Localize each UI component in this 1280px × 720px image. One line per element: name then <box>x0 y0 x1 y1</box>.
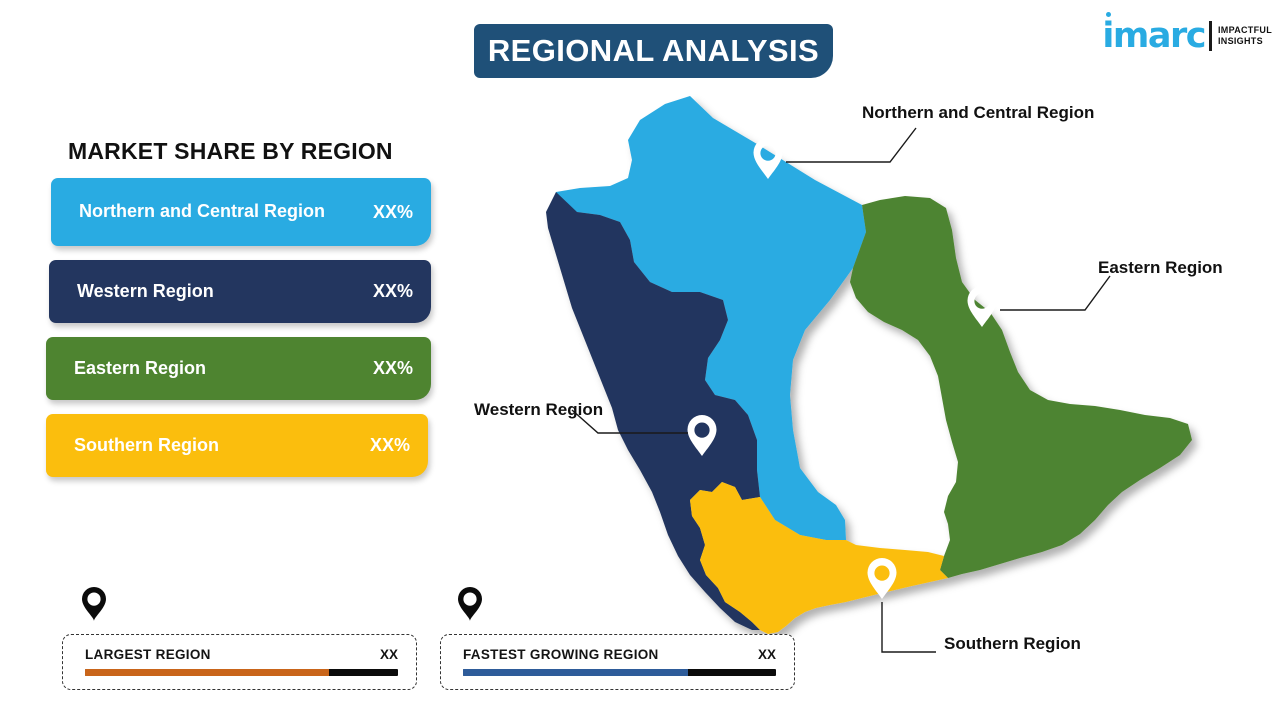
largest-region-progress-fill <box>85 669 329 676</box>
infographic-canvas: REGIONAL ANALYSIS imarc IMPACTFUL INSIGH… <box>0 0 1280 720</box>
map-regions <box>546 96 1192 634</box>
largest-region-card: LARGEST REGION XX <box>62 634 417 690</box>
logo-tagline-line2: INSIGHTS <box>1218 36 1272 47</box>
largest-region-value: XX <box>380 647 398 662</box>
map-region-northern-and-central[interactable] <box>556 96 866 540</box>
legend-item-label: Western Region <box>77 281 373 303</box>
legend-item-label: Southern Region <box>74 435 370 457</box>
legend-heading: MARKET SHARE BY REGION <box>68 138 393 165</box>
largest-region-progress-track <box>85 669 398 676</box>
fastest-growing-region-value: XX <box>758 647 776 662</box>
legend-item-value: XX% <box>373 358 413 379</box>
legend-item-southern[interactable]: Southern Region XX% <box>46 414 428 477</box>
legend-item-western[interactable]: Western Region XX% <box>49 260 431 323</box>
largest-region-row: LARGEST REGION XX <box>85 647 398 662</box>
legend-item-value: XX% <box>370 435 410 456</box>
map-pin-southern-icon <box>868 558 897 599</box>
legend-item-eastern[interactable]: Eastern Region XX% <box>46 337 431 400</box>
largest-region-pin-icon <box>80 586 108 622</box>
logo-divider <box>1209 21 1212 51</box>
legend-item-value: XX% <box>373 281 413 302</box>
callout-leader-lines <box>572 128 1110 652</box>
map-label-northern-and-central: Northern and Central Region <box>862 103 1094 123</box>
leader-line-southern <box>882 602 936 652</box>
fastest-growing-region-label: FASTEST GROWING REGION <box>463 647 659 662</box>
leader-line-northern-and-central <box>786 128 916 162</box>
legend-item-northern-and-central[interactable]: Northern and Central Region XX% <box>51 178 431 246</box>
map-label-eastern: Eastern Region <box>1098 258 1223 278</box>
map-pins <box>688 138 997 599</box>
leader-line-eastern <box>1000 276 1110 310</box>
map-region-southern[interactable] <box>690 482 948 634</box>
map-label-western: Western Region <box>474 400 603 420</box>
fastest-growing-region-progress-track <box>463 669 776 676</box>
legend-item-label: Northern and Central Region <box>79 201 373 223</box>
logo-tagline: IMPACTFUL INSIGHTS <box>1218 25 1272 48</box>
imarc-logo: imarc IMPACTFUL INSIGHTS <box>1102 14 1272 58</box>
logo-tagline-line1: IMPACTFUL <box>1218 25 1272 36</box>
map-pin-western-icon <box>688 415 717 456</box>
map-region-eastern[interactable] <box>850 196 1192 578</box>
logo-dot-icon <box>1106 12 1111 17</box>
fastest-growing-region-progress-fill <box>463 669 688 676</box>
legend-item-value: XX% <box>373 202 413 223</box>
fastest-growing-region-card: FASTEST GROWING REGION XX <box>440 634 795 690</box>
map-pin-northern-and-central-icon <box>754 138 783 179</box>
fastest-growing-region-pin-icon <box>456 586 484 622</box>
page-title-banner: REGIONAL ANALYSIS <box>474 24 833 78</box>
logo-wordmark-text: imarc <box>1102 16 1205 56</box>
map-pin-eastern-icon <box>968 286 997 327</box>
page-title: REGIONAL ANALYSIS <box>488 33 819 69</box>
legend-item-label: Eastern Region <box>74 358 373 380</box>
logo-wordmark: imarc <box>1102 19 1205 54</box>
largest-region-label: LARGEST REGION <box>85 647 211 662</box>
fastest-growing-region-row: FASTEST GROWING REGION XX <box>463 647 776 662</box>
legend-list: Northern and Central Region XX% Western … <box>46 178 438 491</box>
map-label-southern: Southern Region <box>944 634 1081 654</box>
